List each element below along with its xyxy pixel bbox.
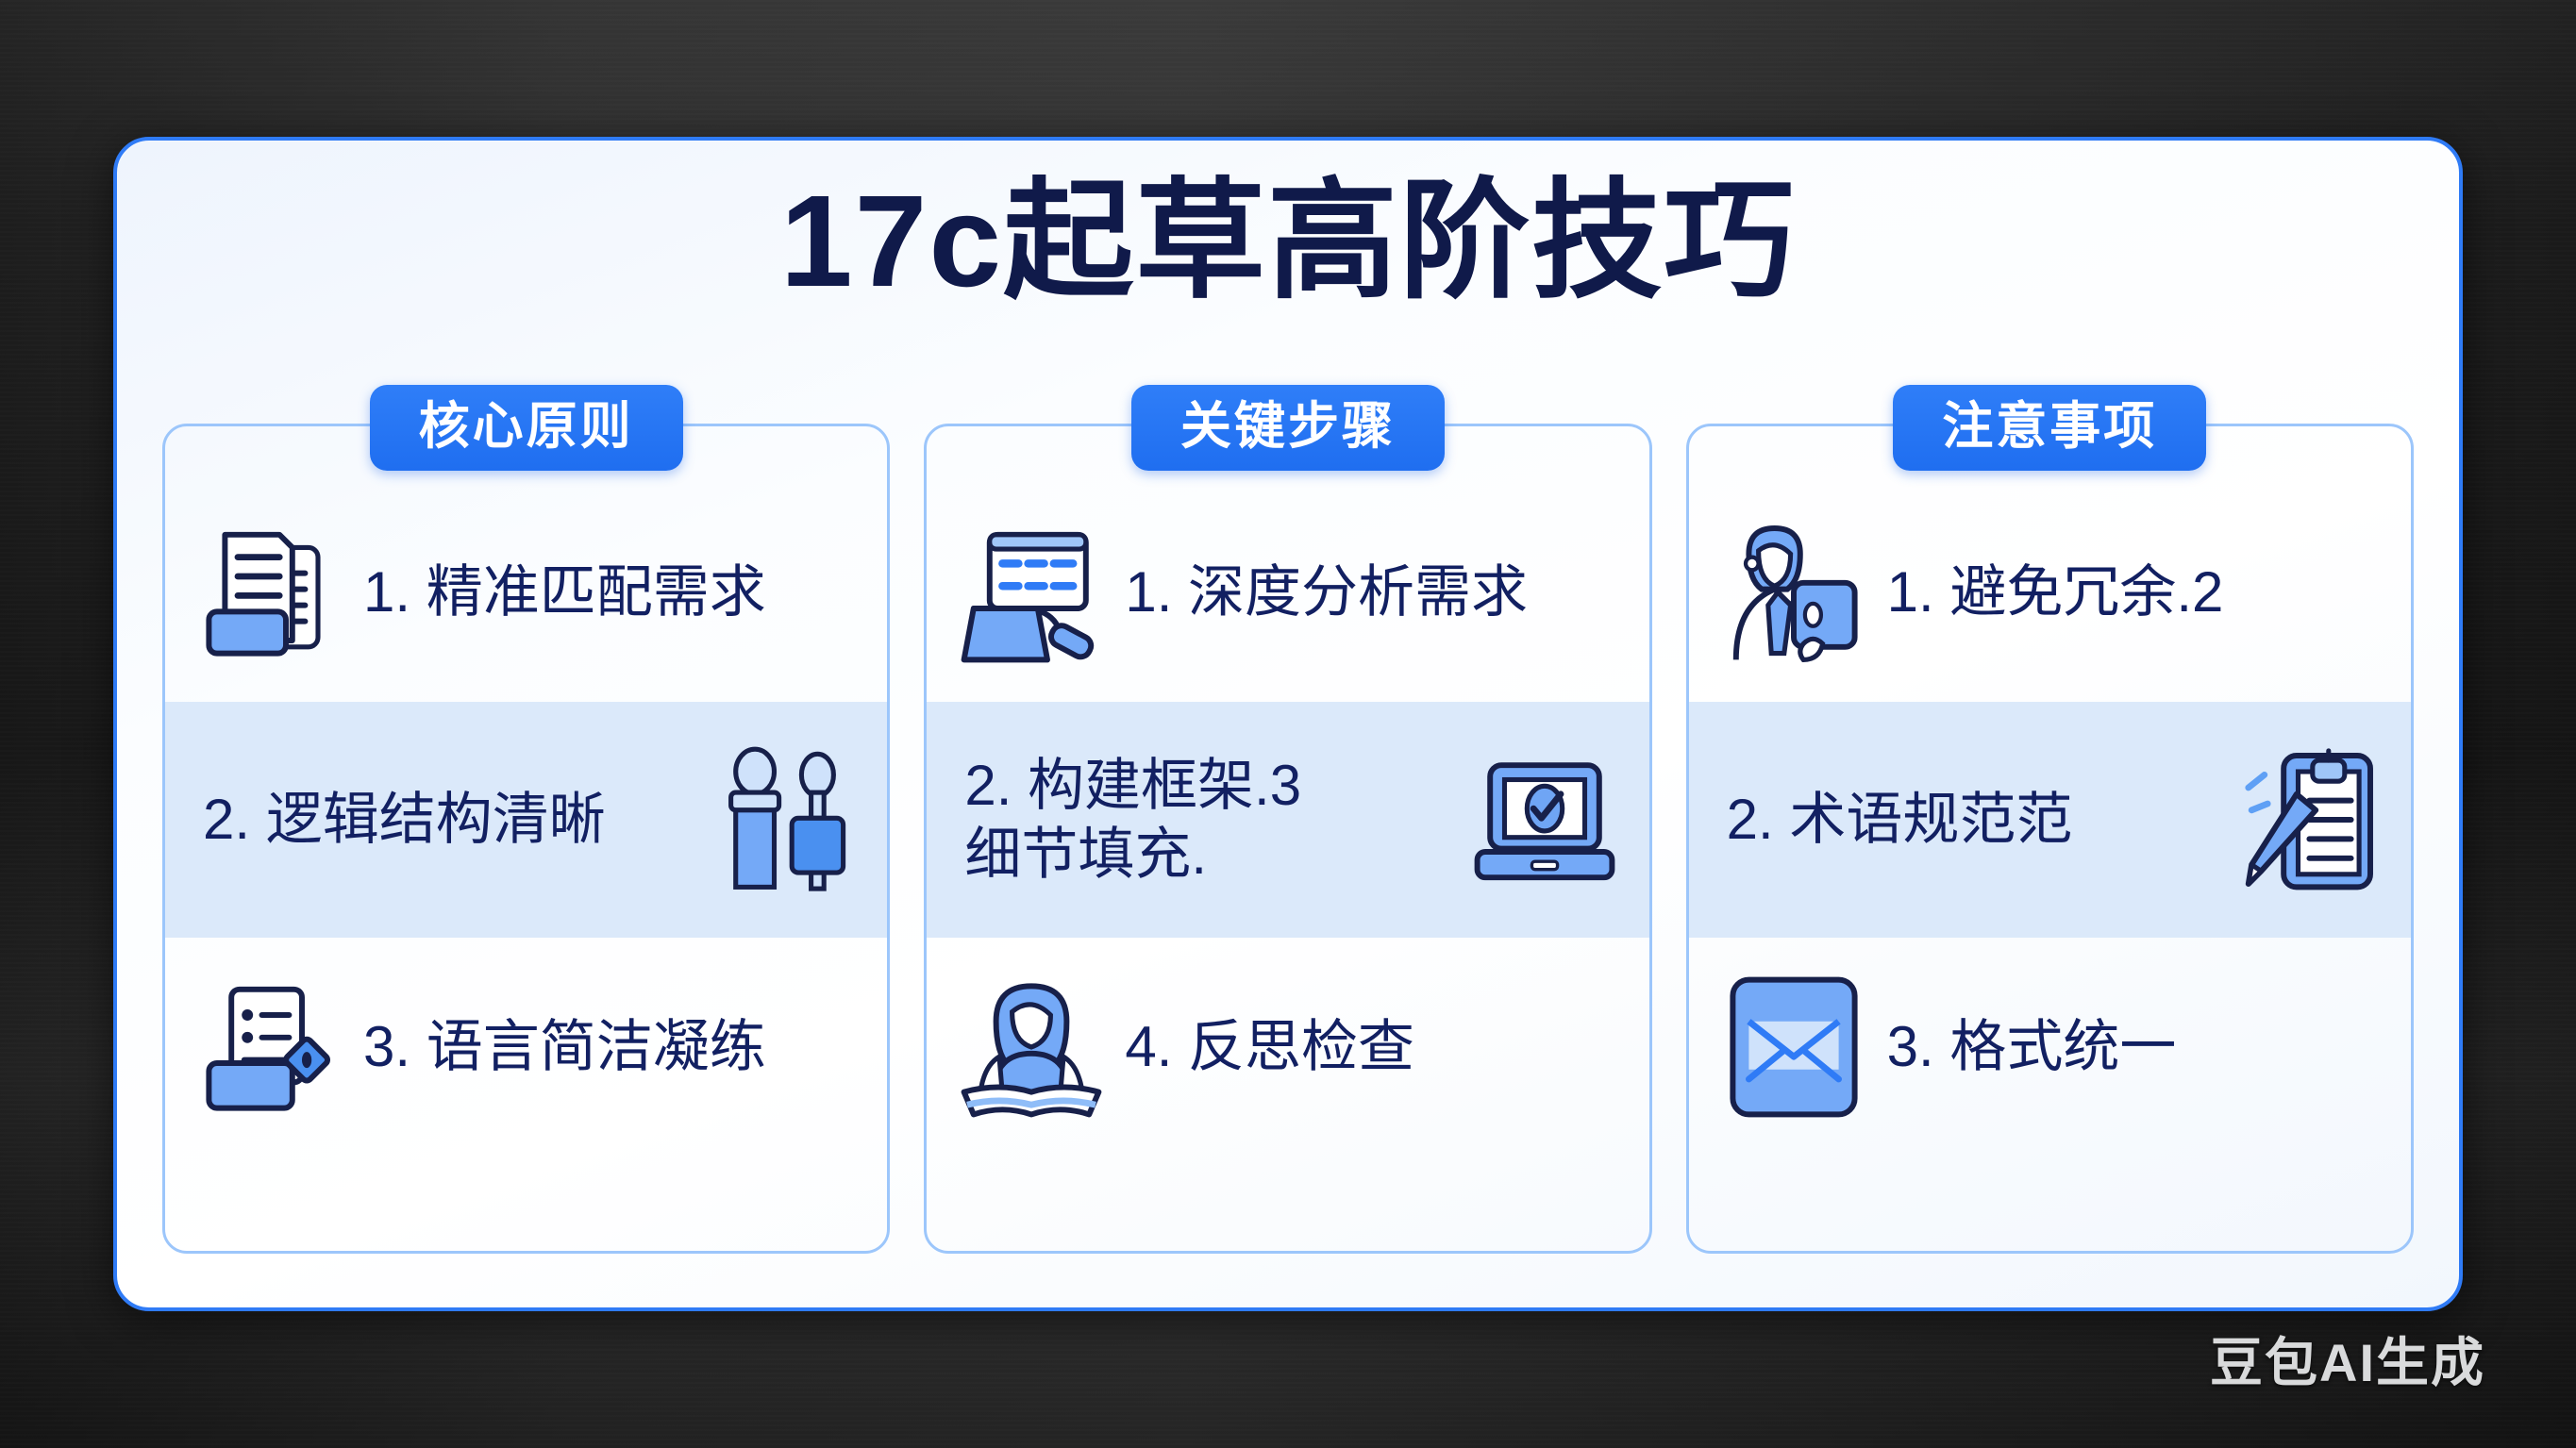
list-item: 2. 术语规范范 bbox=[1689, 702, 2411, 938]
checklist-tag-icon bbox=[190, 967, 350, 1127]
podium-speaker-icon bbox=[702, 740, 862, 900]
list-item-label: 2. 构建框架.3 细节填充. bbox=[951, 751, 1464, 889]
list-item: 3. 语言简洁凝练 bbox=[165, 938, 887, 1157]
list-item-label: 2. 术语规范范 bbox=[1714, 785, 2226, 854]
list-item-label: 1. 避免冗余.2 bbox=[1874, 558, 2386, 626]
list-item: 3. 格式统一 bbox=[1689, 938, 2411, 1157]
laptop-presentation-icon bbox=[951, 512, 1112, 673]
column-2-rows: 1. 深度分析需求 2. 构建框架.3 细节填充. bbox=[927, 483, 1648, 1251]
column-key-steps: 关键步骤 bbox=[924, 424, 1651, 1254]
page-title: 17c起草高阶技巧 bbox=[117, 167, 2459, 317]
list-item-label: 1. 深度分析需求 bbox=[1112, 558, 1624, 626]
infographic-card: 17c起草高阶技巧 核心原则 bbox=[113, 137, 2463, 1311]
laptop-check-icon bbox=[1464, 740, 1625, 900]
column-header-1: 核心原则 bbox=[370, 385, 683, 471]
columns-container: 核心原则 bbox=[162, 424, 2414, 1254]
watermark-label: 豆包AI生成 bbox=[2210, 1321, 2485, 1397]
list-item-label: 1. 精准匹配需求 bbox=[350, 558, 862, 626]
column-header-2: 关键步骤 bbox=[1131, 385, 1445, 471]
list-item: 1. 深度分析需求 bbox=[927, 483, 1648, 702]
list-item: 1. 避免冗余.2 bbox=[1689, 483, 2411, 702]
list-item-label: 3. 格式统一 bbox=[1874, 1012, 2386, 1081]
column-1-rows: 1. 精准匹配需求 2. 逻辑结构清 bbox=[165, 483, 887, 1251]
list-item-label: 2. 逻辑结构清晰 bbox=[190, 785, 702, 854]
person-reading-book-icon bbox=[951, 967, 1112, 1127]
list-item-label: 3. 语言简洁凝练 bbox=[350, 1012, 862, 1081]
column-notes: 注意事项 bbox=[1686, 424, 2414, 1254]
list-item: 1. 精准匹配需求 bbox=[165, 483, 887, 702]
message-envelope-icon bbox=[1714, 967, 1874, 1127]
list-item: 2. 逻辑结构清晰 bbox=[165, 702, 887, 938]
documents-folder-icon bbox=[190, 512, 350, 673]
column-core-principles: 核心原则 bbox=[162, 424, 890, 1254]
column-header-3: 注意事项 bbox=[1893, 385, 2206, 471]
clipboard-pencil-icon bbox=[2226, 740, 2386, 900]
list-item: 2. 构建框架.3 细节填充. bbox=[927, 702, 1648, 938]
column-3-rows: 1. 避免冗余.2 bbox=[1689, 483, 2411, 1251]
list-item: 4. 反思检查 bbox=[927, 938, 1648, 1157]
list-item-label: 4. 反思检查 bbox=[1112, 1012, 1624, 1081]
businessman-tablet-icon bbox=[1714, 512, 1874, 673]
